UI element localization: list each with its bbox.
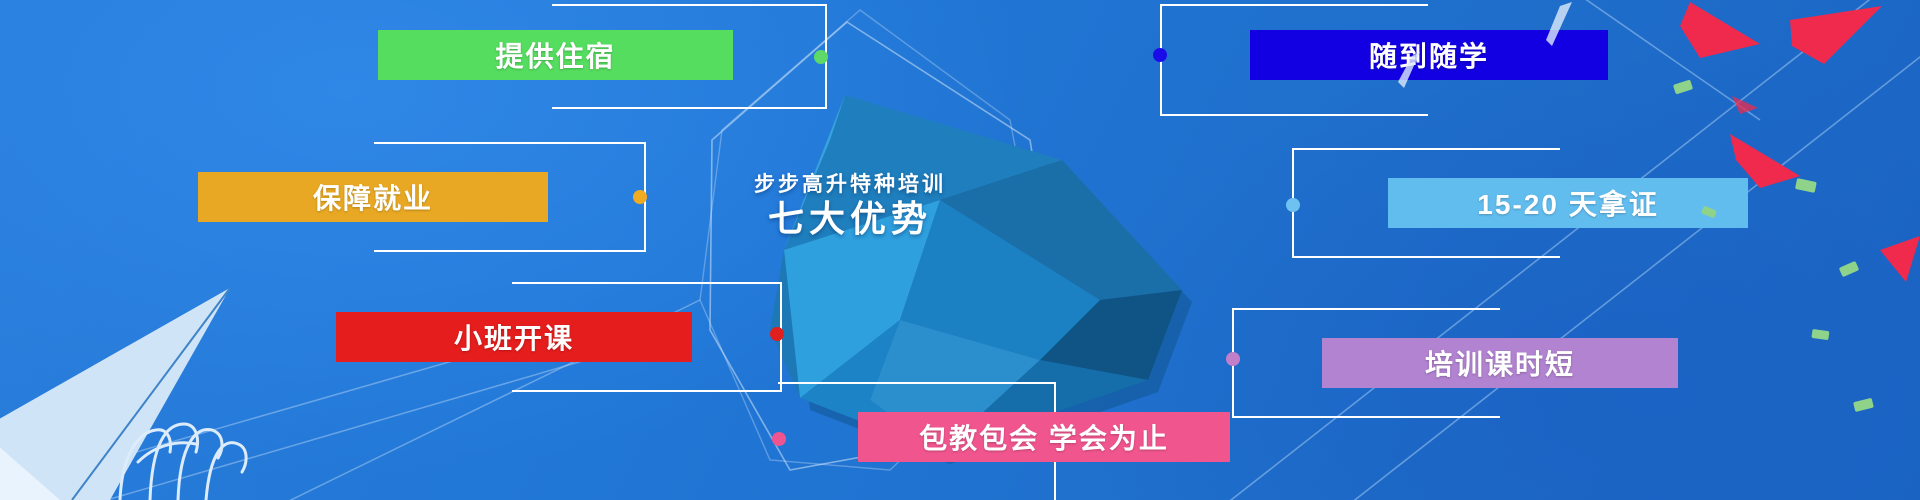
- paper-plane-icon: [0, 0, 1920, 500]
- banner-canvas: 步步高升特种培训 七大优势 提供住宿 保障就业 小班开课 包教包会 学会为止 随…: [0, 0, 1920, 500]
